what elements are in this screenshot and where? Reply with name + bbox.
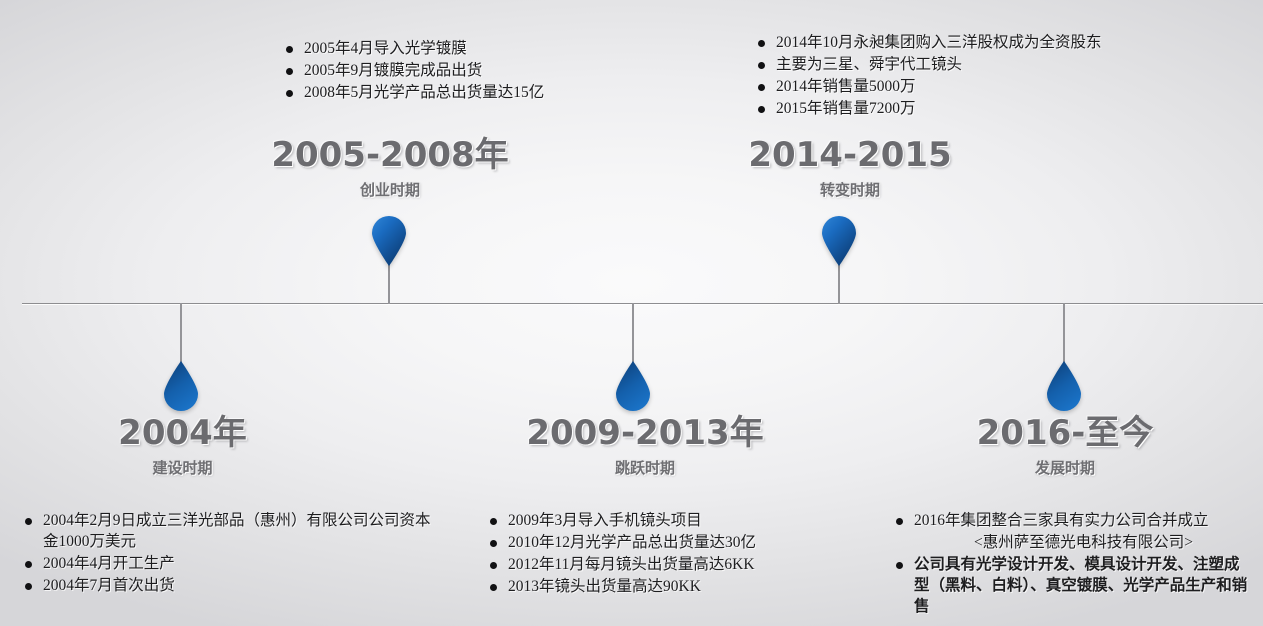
list-item: 2010年12月光学产品总出货量达30亿 (487, 532, 877, 553)
era-subtitle: 转变时期 (735, 179, 965, 200)
pin-stem (388, 260, 390, 304)
timeline-axis (22, 303, 1263, 304)
era-title: 2009-2013年 (520, 415, 770, 452)
era-title: 2005-2008年 (265, 137, 515, 174)
list-item: 2013年镜头出货量高达90KK (487, 576, 877, 597)
era-title: 2004年 (70, 415, 295, 452)
list-item: 公司具有光学设计开发、模具设计开发、注塑成型（黑料、白料）、真空镀膜、光学产品生… (893, 554, 1253, 617)
era-subtitle: 建设时期 (70, 457, 295, 478)
era-heading-2014-2015: 2014-2015 转变时期 (735, 137, 965, 200)
timeline-infographic: 2005年4月导入光学镀膜 2005年9月镀膜完成品出货 2008年5月光学产品… (0, 0, 1263, 626)
pin-icon[interactable] (615, 361, 651, 411)
list-item: 2008年5月光学产品总出货量达15亿 (283, 82, 613, 103)
list-item: 2014年销售量5000万 (755, 76, 1175, 97)
list-item: 2005年9月镀膜完成品出货 (283, 60, 613, 81)
era-title: 2016-至今 (955, 415, 1175, 452)
era-subtitle: 创业时期 (265, 179, 515, 200)
pin-stem (632, 303, 634, 363)
pin-icon[interactable] (1046, 361, 1082, 411)
bullet-list-2005-2008: 2005年4月导入光学镀膜 2005年9月镀膜完成品出货 2008年5月光学产品… (283, 38, 613, 104)
list-item: 2004年4月开工生产 (22, 553, 434, 574)
era-heading-2009-2013: 2009-2013年 跳跃时期 (520, 415, 770, 478)
list-item: 2014年10月永昶集团购入三洋股权成为全资股东 (755, 32, 1175, 53)
era-title: 2014-2015 (735, 137, 965, 174)
era-subtitle: 跳跃时期 (520, 457, 770, 478)
list-item: 2015年销售量7200万 (755, 98, 1175, 119)
era-subtitle: 发展时期 (955, 457, 1175, 478)
pin-icon[interactable] (371, 216, 407, 266)
bullet-list-2004: 2004年2月9日成立三洋光部品（惠州）有限公司公司资本金1000万美元 200… (22, 510, 434, 597)
era-heading-2005-2008: 2005-2008年 创业时期 (265, 137, 515, 200)
pin-stem (838, 260, 840, 304)
bullet-list-2009-2013: 2009年3月导入手机镜头项目 2010年12月光学产品总出货量达30亿 201… (487, 510, 877, 598)
era-heading-2004: 2004年 建设时期 (70, 415, 295, 478)
list-item: 2004年2月9日成立三洋光部品（惠州）有限公司公司资本金1000万美元 (22, 510, 434, 552)
era-heading-2016-now: 2016-至今 发展时期 (955, 415, 1175, 478)
list-item: 2016年集团整合三家具有实力公司合并成立 (893, 510, 1253, 531)
list-item: 2009年3月导入手机镜头项目 (487, 510, 877, 531)
pin-icon[interactable] (163, 361, 199, 411)
list-item: 2004年7月首次出货 (22, 575, 434, 596)
list-item: 2012年11月每月镜头出货量高达6KK (487, 554, 877, 575)
pin-icon[interactable] (821, 216, 857, 266)
pin-stem (180, 303, 182, 363)
list-item: 2005年4月导入光学镀膜 (283, 38, 613, 59)
bullet-list-2014-2015: 2014年10月永昶集团购入三洋股权成为全资股东 主要为三星、舜宇代工镜头 20… (755, 32, 1175, 120)
pin-stem (1063, 303, 1065, 363)
list-item: 主要为三星、舜宇代工镜头 (755, 54, 1175, 75)
bullet-list-2016-now: 2016年集团整合三家具有实力公司合并成立 <惠州萨至德光电科技有限公司> 公司… (893, 510, 1253, 618)
list-item-continuation: <惠州萨至德光电科技有限公司> (893, 532, 1253, 553)
